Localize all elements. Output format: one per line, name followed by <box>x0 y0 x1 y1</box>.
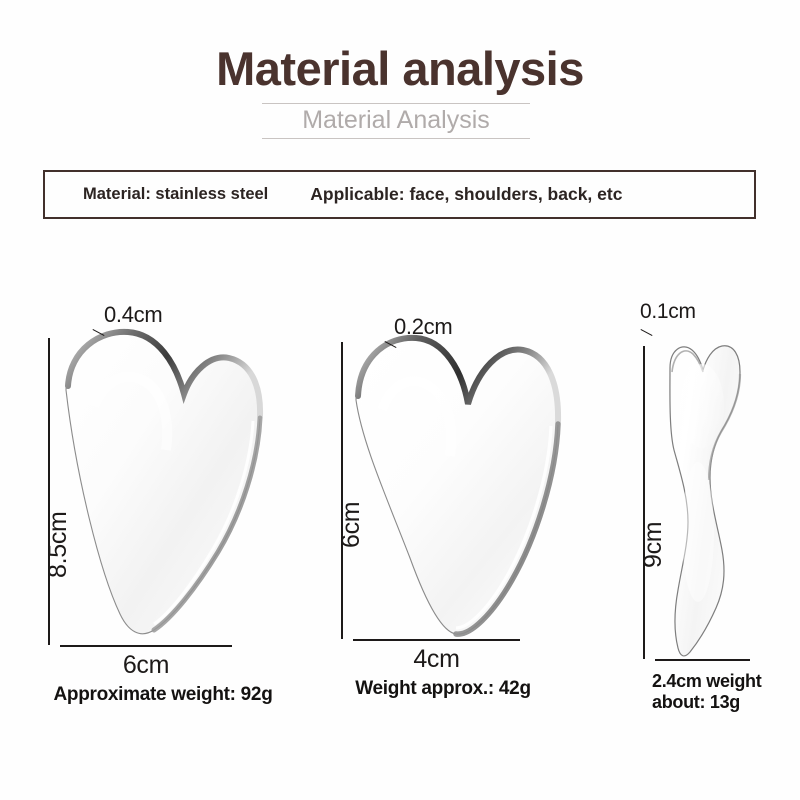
weight-label: Weight approx.: 42g <box>318 678 568 700</box>
width-dimension-line <box>353 639 520 641</box>
weight-label: 2.4cm weight about: 13g <box>652 671 800 712</box>
product-contour-gua-sha-slim: 0.1cm 9cm 2.4cm weight about: 13g <box>600 288 800 718</box>
width-label: 6cm <box>60 651 232 680</box>
subtitle-rule-block: Material Analysis <box>262 103 530 139</box>
product-image-contour-slim <box>648 332 768 677</box>
height-label: 9cm <box>639 522 668 568</box>
thickness-label: 0.2cm <box>394 314 452 340</box>
width-dimension-line <box>60 645 232 647</box>
thickness-label: 0.1cm <box>640 300 696 324</box>
height-dimension-line <box>48 338 50 645</box>
spec-material: Material: stainless steel <box>83 185 268 204</box>
width-label: 4cm <box>353 645 520 674</box>
spec-info-box: Material: stainless steel Applicable: fa… <box>43 170 756 219</box>
height-label: 8.5cm <box>44 511 73 578</box>
infographic-page: Material analysis Material Analysis Mate… <box>0 0 800 800</box>
height-dimension-line <box>643 346 645 659</box>
thickness-label: 0.4cm <box>104 302 162 328</box>
weight-label: Approximate weight: 92g <box>18 684 308 706</box>
product-image-heart-large <box>54 326 304 651</box>
height-dimension-line <box>341 342 343 639</box>
product-heart-gua-sha-medium: 0.2cm 6cm 4cm Weight approx.: 42g <box>318 288 588 718</box>
product-row: 0.4cm 8.5cm 6cm Approximate weight: 92g <box>0 288 800 718</box>
width-dimension-line <box>655 659 750 661</box>
height-label: 6cm <box>337 502 366 548</box>
product-image-heart-medium <box>346 330 586 655</box>
spec-applicable: Applicable: face, shoulders, back, etc <box>310 184 622 205</box>
product-heart-gua-sha-large: 0.4cm 8.5cm 6cm Approximate weight: 92g <box>18 288 308 718</box>
page-subtitle: Material Analysis <box>262 106 530 135</box>
page-title: Material analysis <box>0 44 800 93</box>
